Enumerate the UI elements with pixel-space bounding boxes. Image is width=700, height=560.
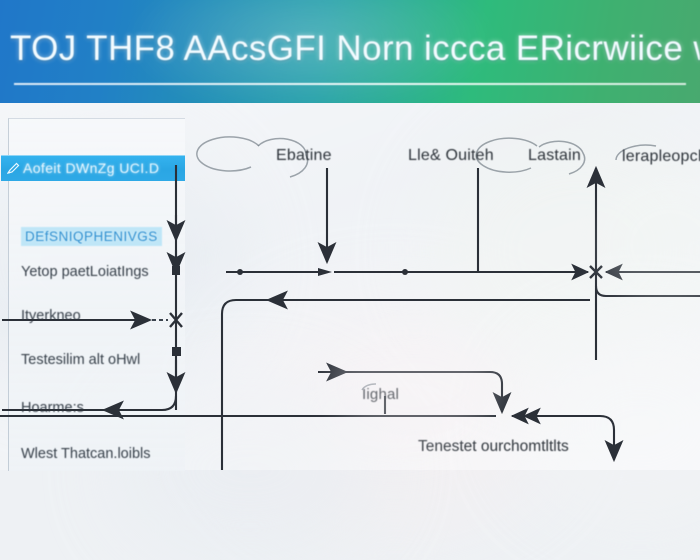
edge-down-left-column (222, 300, 272, 470)
rail-dot (402, 269, 408, 275)
node-label-lastain[interactable]: Lastain (528, 147, 581, 165)
node-label-lle-ouiteh[interactable]: Lle& Ouiteh (408, 147, 494, 165)
rail-dot (237, 269, 243, 275)
node-label-ebatine[interactable]: Ebatine (276, 147, 332, 165)
node-label-lerapleopch[interactable]: lerapleopch (622, 148, 700, 166)
app-root: TOJ THF8 AAcsGFI Norn iccca ERicrwiice w… (0, 0, 700, 470)
spine-node-marker (172, 347, 181, 356)
flow-diagram (0, 0, 700, 470)
diagram-caption: Tenestet ourchomtltlts (418, 438, 569, 456)
edge-lower-elbow (388, 372, 502, 412)
edge-elbow-left (2, 396, 176, 410)
rail-arrow-marker (318, 268, 332, 276)
node-outline-group (197, 137, 656, 390)
edge-bottom-right-down (600, 416, 614, 460)
node-label-iighal[interactable]: Iighal (362, 386, 399, 403)
spine-node-marker (172, 266, 180, 275)
edge-right-return (596, 286, 700, 296)
